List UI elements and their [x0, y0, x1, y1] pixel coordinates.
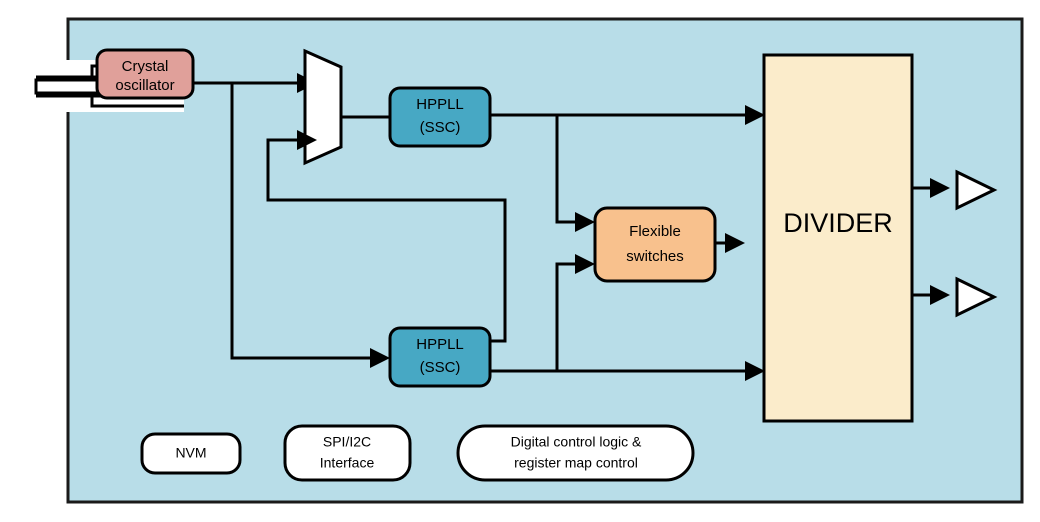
hppll-bottom-block: HPPLL (SSC) — [390, 328, 490, 386]
flexible-switches-block: Flexible switches — [595, 208, 715, 281]
flexible-switches-label-line2: switches — [626, 248, 684, 265]
spi-i2c-label-line2: Interface — [320, 455, 375, 471]
nvm-label: NVM — [175, 445, 206, 461]
clock-generator-block-diagram: Crystal oscillator HPPLL (SSC) — [0, 0, 1040, 522]
crystal-oscillator-label-line2: oscillator — [115, 77, 174, 94]
hppll-top-block: HPPLL (SSC) — [390, 88, 490, 146]
input-multiplexer[interactable] — [305, 51, 341, 163]
spi-i2c-label-line1: SPI/I2C — [323, 434, 371, 450]
hppll-top-label-line2: (SSC) — [420, 119, 461, 136]
spi-i2c-interface-block: SPI/I2C Interface — [285, 426, 410, 480]
crystal-oscillator-block: Crystal oscillator — [97, 50, 193, 98]
divider-block: DIVIDER — [764, 55, 912, 421]
digital-control-logic-block: Digital control logic & register map con… — [458, 426, 693, 480]
flexible-switches-label-line1: Flexible — [629, 223, 681, 240]
nvm-block: NVM — [142, 434, 240, 473]
divider-label: DIVIDER — [783, 208, 893, 238]
digital-control-label-line1: Digital control logic & — [511, 434, 642, 450]
block-diagram-canvas: Crystal oscillator HPPLL (SSC) — [0, 0, 1040, 522]
hppll-bottom-label-line1: HPPLL — [416, 336, 464, 353]
crystal-oscillator-label-line1: Crystal — [122, 58, 169, 75]
hppll-top-label-line1: HPPLL — [416, 96, 464, 113]
hppll-bottom-label-line2: (SSC) — [420, 359, 461, 376]
digital-control-label-line2: register map control — [514, 455, 638, 471]
